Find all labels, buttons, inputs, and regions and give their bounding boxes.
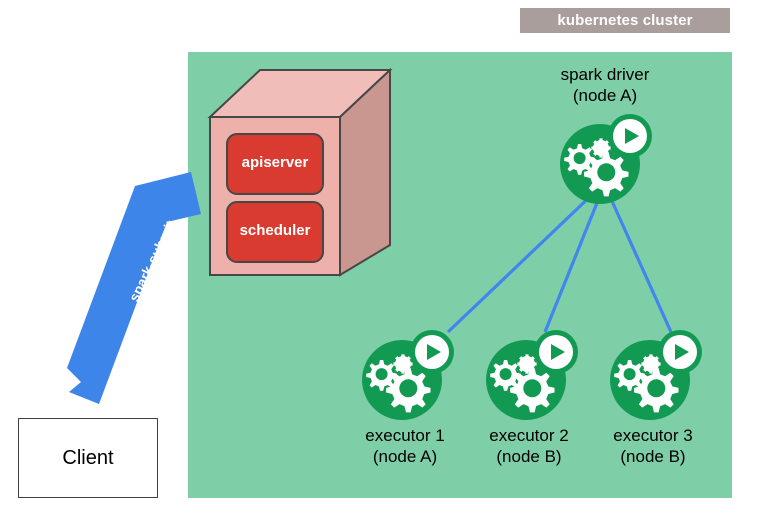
executor-3-node[interactable] xyxy=(606,328,702,424)
medium-gear-icon xyxy=(490,360,521,391)
client-label: Client xyxy=(62,447,113,470)
executor-3-title: executor 3 xyxy=(573,425,733,446)
executor-3-caption: executor 3 (node B) xyxy=(573,425,733,467)
spark-driver-title: spark driver xyxy=(515,64,695,85)
small-gear-icon xyxy=(641,354,660,373)
gears-play-icon xyxy=(358,328,454,424)
spark-driver-node[interactable] xyxy=(556,112,652,208)
scheduler-label: scheduler xyxy=(227,222,323,239)
client-box[interactable]: Client xyxy=(18,418,158,498)
spark-driver-caption: spark driver (node A) xyxy=(515,64,695,106)
medium-gear-icon xyxy=(564,144,595,175)
gears-play-icon xyxy=(606,328,702,424)
gears-play-icon xyxy=(482,328,578,424)
cube-shape xyxy=(205,62,395,282)
gears-play-icon xyxy=(556,112,652,208)
play-badge-icon xyxy=(415,335,449,369)
diagram-canvas: kubernetes cluster apiserver scheduler s… xyxy=(0,0,761,516)
play-badge-icon xyxy=(663,335,697,369)
medium-gear-icon xyxy=(366,360,397,391)
kubernetes-cluster-label: kubernetes cluster xyxy=(520,8,730,33)
apiserver-label: apiserver xyxy=(227,154,323,171)
small-gear-icon xyxy=(591,138,610,157)
play-badge-icon xyxy=(539,335,573,369)
executor-3-subtitle: (node B) xyxy=(573,446,733,467)
executor-2-node[interactable] xyxy=(482,328,578,424)
control-plane-cube[interactable]: apiserver scheduler xyxy=(205,62,395,282)
play-badge-icon xyxy=(613,119,647,153)
small-gear-icon xyxy=(393,354,412,373)
medium-gear-icon xyxy=(614,360,645,391)
spark-driver-subtitle: (node A) xyxy=(515,85,695,106)
executor-1-node[interactable] xyxy=(358,328,454,424)
small-gear-icon xyxy=(517,354,536,373)
